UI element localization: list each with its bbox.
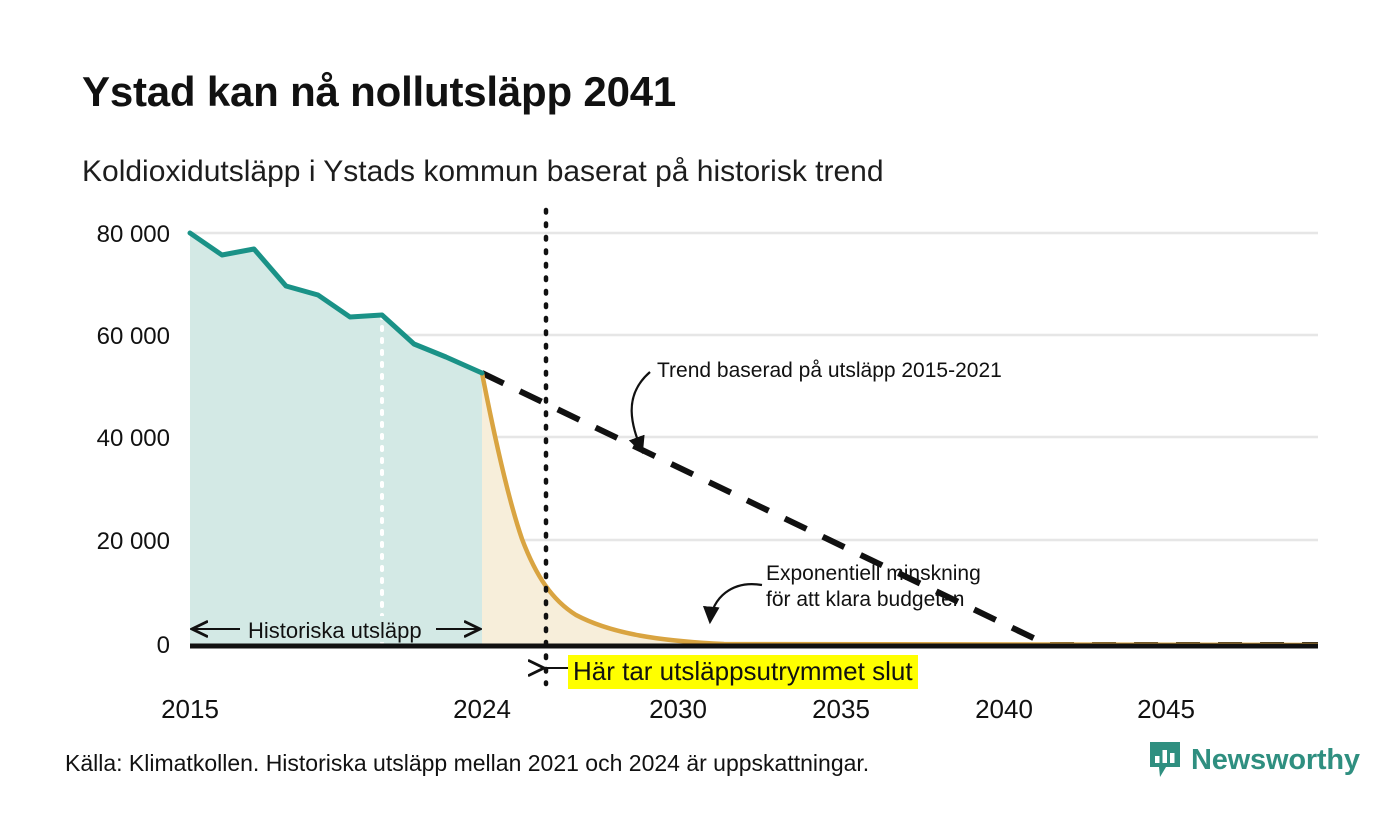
exponential-callout-arrow [710, 584, 762, 622]
x-tick-2040: 2040 [944, 694, 1064, 725]
annotation-historical-span: Historiska utsläpp [248, 618, 422, 644]
annotation-exponential-line2: för att klara budgeten [766, 587, 964, 613]
y-tick-40000: 40 000 [50, 425, 170, 453]
newsworthy-logo-text: Newsworthy [1191, 744, 1360, 777]
bar-chart-speech-bubble-icon [1148, 740, 1182, 780]
annotation-exponential-line1: Exponentiell minskning [766, 561, 981, 587]
trend-callout-arrow [632, 372, 650, 452]
historical-area [190, 233, 482, 644]
annotation-trend: Trend baserad på utsläpp 2015-2021 [657, 358, 1002, 384]
source-note: Källa: Klimatkollen. Historiska utsläpp … [65, 750, 869, 777]
x-tick-2045: 2045 [1106, 694, 1226, 725]
chart-page: Ystad kan nå nollutsläpp 2041 Koldioxidu… [0, 0, 1400, 840]
newsworthy-logo[interactable]: Newsworthy [1148, 740, 1360, 780]
y-tick-80000: 80 000 [50, 221, 170, 249]
y-tick-60000: 60 000 [50, 323, 170, 351]
y-tick-0: 0 [50, 632, 170, 660]
y-tick-20000: 20 000 [50, 528, 170, 556]
x-tick-2024: 2024 [422, 694, 542, 725]
x-tick-2015: 2015 [130, 694, 250, 725]
x-tick-2035: 2035 [781, 694, 901, 725]
x-tick-2030: 2030 [618, 694, 738, 725]
annotation-budget-end: Här tar utsläppsutrymmet slut [568, 655, 918, 689]
